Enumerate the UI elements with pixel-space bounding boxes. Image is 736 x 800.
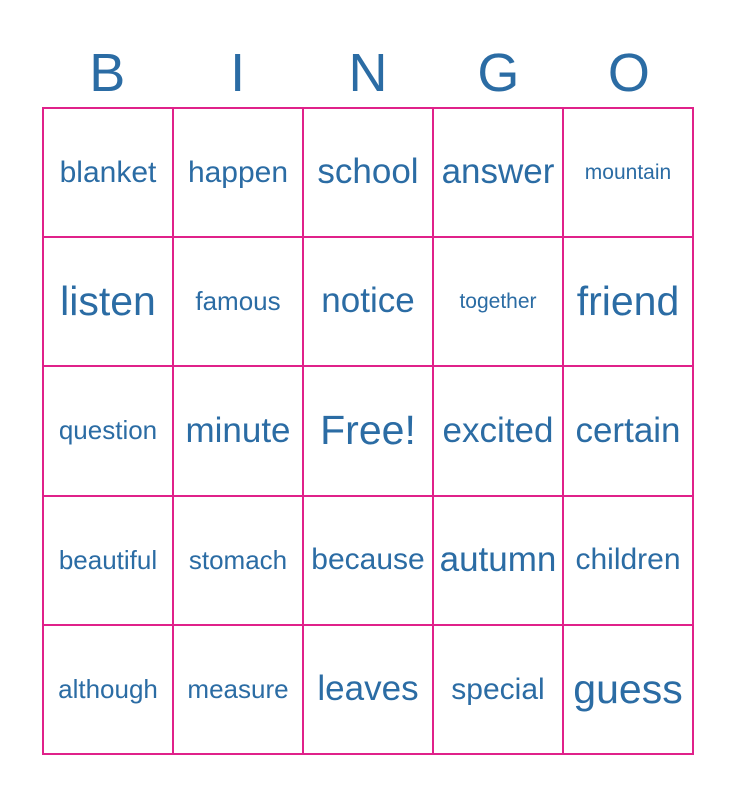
bingo-cell-label: certain bbox=[575, 413, 680, 450]
bingo-cell[interactable]: notice bbox=[304, 238, 434, 367]
bingo-cell[interactable]: beautiful bbox=[44, 497, 174, 626]
bingo-header-letter-b: B bbox=[42, 44, 172, 102]
bingo-cell[interactable]: famous bbox=[174, 238, 304, 367]
bingo-cell[interactable]: mountain bbox=[564, 109, 694, 238]
bingo-cell[interactable]: question bbox=[44, 367, 174, 496]
bingo-cell-label: happen bbox=[188, 157, 288, 189]
bingo-cell-label: school bbox=[317, 154, 418, 191]
bingo-cell[interactable]: minute bbox=[174, 367, 304, 496]
bingo-cell[interactable]: excited bbox=[434, 367, 564, 496]
bingo-cell-label: stomach bbox=[189, 547, 287, 574]
bingo-header-letter-n: N bbox=[303, 44, 433, 102]
bingo-cell[interactable]: special bbox=[434, 626, 564, 755]
bingo-free-cell-label: Free! bbox=[320, 409, 416, 452]
bingo-cell[interactable]: happen bbox=[174, 109, 304, 238]
bingo-cell[interactable]: listen bbox=[44, 238, 174, 367]
bingo-cell-label: friend bbox=[577, 280, 680, 323]
bingo-header-letter-g: G bbox=[433, 44, 563, 102]
bingo-cell-label: notice bbox=[321, 283, 414, 320]
bingo-cell[interactable]: blanket bbox=[44, 109, 174, 238]
bingo-cell-label: beautiful bbox=[59, 547, 157, 574]
bingo-free-cell[interactable]: Free! bbox=[304, 367, 434, 496]
bingo-cell-label: minute bbox=[185, 413, 290, 450]
bingo-cell-label: special bbox=[451, 674, 544, 706]
bingo-cell-label: measure bbox=[187, 676, 288, 703]
bingo-cell-label: because bbox=[311, 544, 424, 576]
bingo-cell-label: guess bbox=[573, 668, 682, 711]
bingo-cell-label: excited bbox=[443, 413, 554, 450]
bingo-cell-label: together bbox=[459, 291, 536, 313]
bingo-cell[interactable]: although bbox=[44, 626, 174, 755]
bingo-grid: blanket happen school answer mountain li… bbox=[42, 107, 694, 755]
bingo-cell[interactable]: school bbox=[304, 109, 434, 238]
bingo-header-letter-i: I bbox=[172, 44, 302, 102]
bingo-header-letter-o: O bbox=[564, 44, 694, 102]
bingo-cell[interactable]: friend bbox=[564, 238, 694, 367]
bingo-cell-label: mountain bbox=[585, 162, 671, 184]
bingo-cell[interactable]: certain bbox=[564, 367, 694, 496]
bingo-cell[interactable]: because bbox=[304, 497, 434, 626]
bingo-cell[interactable]: stomach bbox=[174, 497, 304, 626]
bingo-cell[interactable]: together bbox=[434, 238, 564, 367]
bingo-cell[interactable]: answer bbox=[434, 109, 564, 238]
bingo-cell-label: answer bbox=[442, 154, 555, 191]
bingo-header: B I N G O bbox=[42, 36, 694, 102]
bingo-cell-label: listen bbox=[60, 280, 156, 323]
bingo-cell[interactable]: leaves bbox=[304, 626, 434, 755]
bingo-cell-label: blanket bbox=[60, 157, 157, 189]
bingo-cell-label: although bbox=[58, 676, 158, 703]
bingo-cell-label: famous bbox=[195, 288, 280, 315]
bingo-cell-label: leaves bbox=[317, 671, 418, 708]
bingo-cell[interactable]: children bbox=[564, 497, 694, 626]
bingo-cell[interactable]: measure bbox=[174, 626, 304, 755]
bingo-cell[interactable]: autumn bbox=[434, 497, 564, 626]
bingo-cell-label: question bbox=[59, 417, 157, 444]
bingo-cell[interactable]: guess bbox=[564, 626, 694, 755]
bingo-cell-label: autumn bbox=[440, 542, 557, 579]
bingo-cell-label: children bbox=[575, 544, 680, 576]
bingo-card: B I N G O blanket happen school answer m… bbox=[0, 0, 736, 800]
